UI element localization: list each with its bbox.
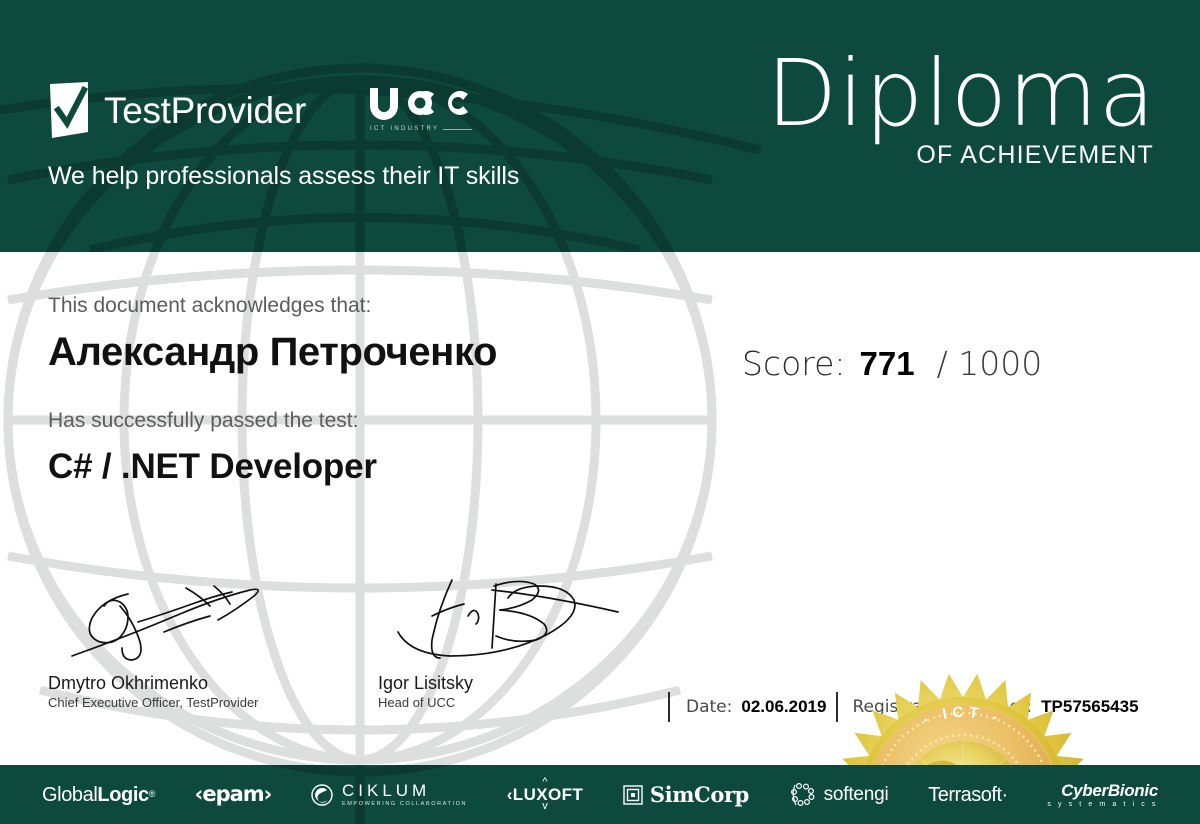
- footer-band: GlobalLogic® ‹epam› CIKLUM EMPOWERING CO…: [0, 765, 1200, 824]
- simcorp-wordmark: SimCorp: [650, 784, 749, 805]
- ucc-logo-subtitle: ICT INDUSTRY: [368, 126, 472, 132]
- signature-mark-1: [48, 570, 348, 666]
- header-band: TestProvider ICT INDUSTRY We help profes…: [0, 0, 1200, 252]
- partner-logo-softengi: softengi: [789, 782, 889, 808]
- partner-logo-terrasoft: Terrasoft·: [928, 785, 1007, 805]
- diploma-certificate: TestProvider ICT INDUSTRY We help profes…: [0, 0, 1200, 824]
- partner-logo-globallogic: GlobalLogic®: [42, 785, 155, 805]
- certificate-body: This document acknowledges that: Алексан…: [0, 252, 1200, 765]
- cyberbionic-wordmark: CyberBionic: [1061, 782, 1158, 799]
- globallogic-mark: ®: [149, 790, 155, 799]
- signature-block-2: Igor Lisitsky Head of UCC: [378, 570, 658, 710]
- signature-block-1: Dmytro Okhrimenko Chief Executive Office…: [48, 570, 348, 710]
- partner-logo-luxoft: ^ ‹LUXOFT v: [507, 779, 583, 810]
- softengi-wordmark: softengi: [824, 785, 889, 804]
- partner-logo-ciklum: CIKLUM EMPOWERING COLLABORATION: [311, 782, 467, 808]
- score-row: Score: 771 / 1000: [742, 344, 1042, 383]
- signature-role-2: Head of UCC: [378, 695, 658, 710]
- luxoft-chevron-down-icon: v: [542, 803, 548, 810]
- ciklum-text-stack: CIKLUM EMPOWERING COLLABORATION: [342, 782, 467, 808]
- passed-label: Has successfully passed the test:: [48, 409, 358, 433]
- ucc-mark-icon: [368, 86, 472, 120]
- partner-logo-cyberbionic: CyberBionic s y s t e m a t i c s: [1047, 782, 1158, 808]
- ucc-logo: ICT INDUSTRY: [368, 86, 472, 132]
- softengi-mark-icon: [789, 782, 819, 808]
- signature-name-2: Igor Lisitsky: [378, 673, 658, 694]
- ciklum-tagline: EMPOWERING COLLABORATION: [342, 802, 467, 808]
- ucc-subtitle-text: ICT INDUSTRY: [370, 126, 439, 132]
- signature-mark-2: [378, 570, 658, 666]
- recipient-name: Александр Петроченко: [48, 330, 497, 375]
- cyberbionic-tagline: s y s t e m a t i c s: [1047, 801, 1158, 808]
- meta-divider-left: [668, 692, 670, 722]
- acknowledge-label: This document acknowledges that:: [48, 294, 371, 318]
- ciklum-wordmark: CIKLUM: [342, 782, 430, 799]
- score-value: 771: [860, 345, 915, 383]
- simcorp-mark-icon: [623, 785, 643, 805]
- cyberbionic-text-stack: CyberBionic s y s t e m a t i c s: [1047, 782, 1158, 808]
- brand-logo: TestProvider: [48, 82, 306, 138]
- partner-logos: GlobalLogic® ‹epam› CIKLUM EMPOWERING CO…: [0, 765, 1200, 824]
- brand-name: TestProvider: [104, 92, 306, 129]
- partner-logo-simcorp: SimCorp: [623, 784, 749, 805]
- date-label: Date:: [686, 697, 732, 717]
- ciklum-mark-icon: [311, 784, 333, 806]
- globallogic-part1: Global: [42, 785, 97, 805]
- score-max: / 1000: [937, 344, 1043, 383]
- ucc-rule-divider: [443, 129, 472, 130]
- diploma-title-block: Diploma OF ACHIEVEMENT: [766, 50, 1156, 170]
- test-name: C# / .NET Developer: [48, 447, 377, 487]
- date-value: 02.06.2019: [741, 697, 826, 717]
- checkmark-icon: [48, 82, 90, 138]
- score-label: Score:: [742, 344, 846, 383]
- signature-name-1: Dmytro Okhrimenko: [48, 673, 348, 694]
- signature-role-1: Chief Executive Officer, TestProvider: [48, 695, 348, 710]
- page-title: Diploma: [766, 50, 1156, 137]
- partner-logo-epam: ‹epam›: [195, 784, 272, 805]
- globallogic-part2: Logic: [97, 785, 148, 805]
- tagline: We help professionals assess their IT sk…: [48, 162, 519, 191]
